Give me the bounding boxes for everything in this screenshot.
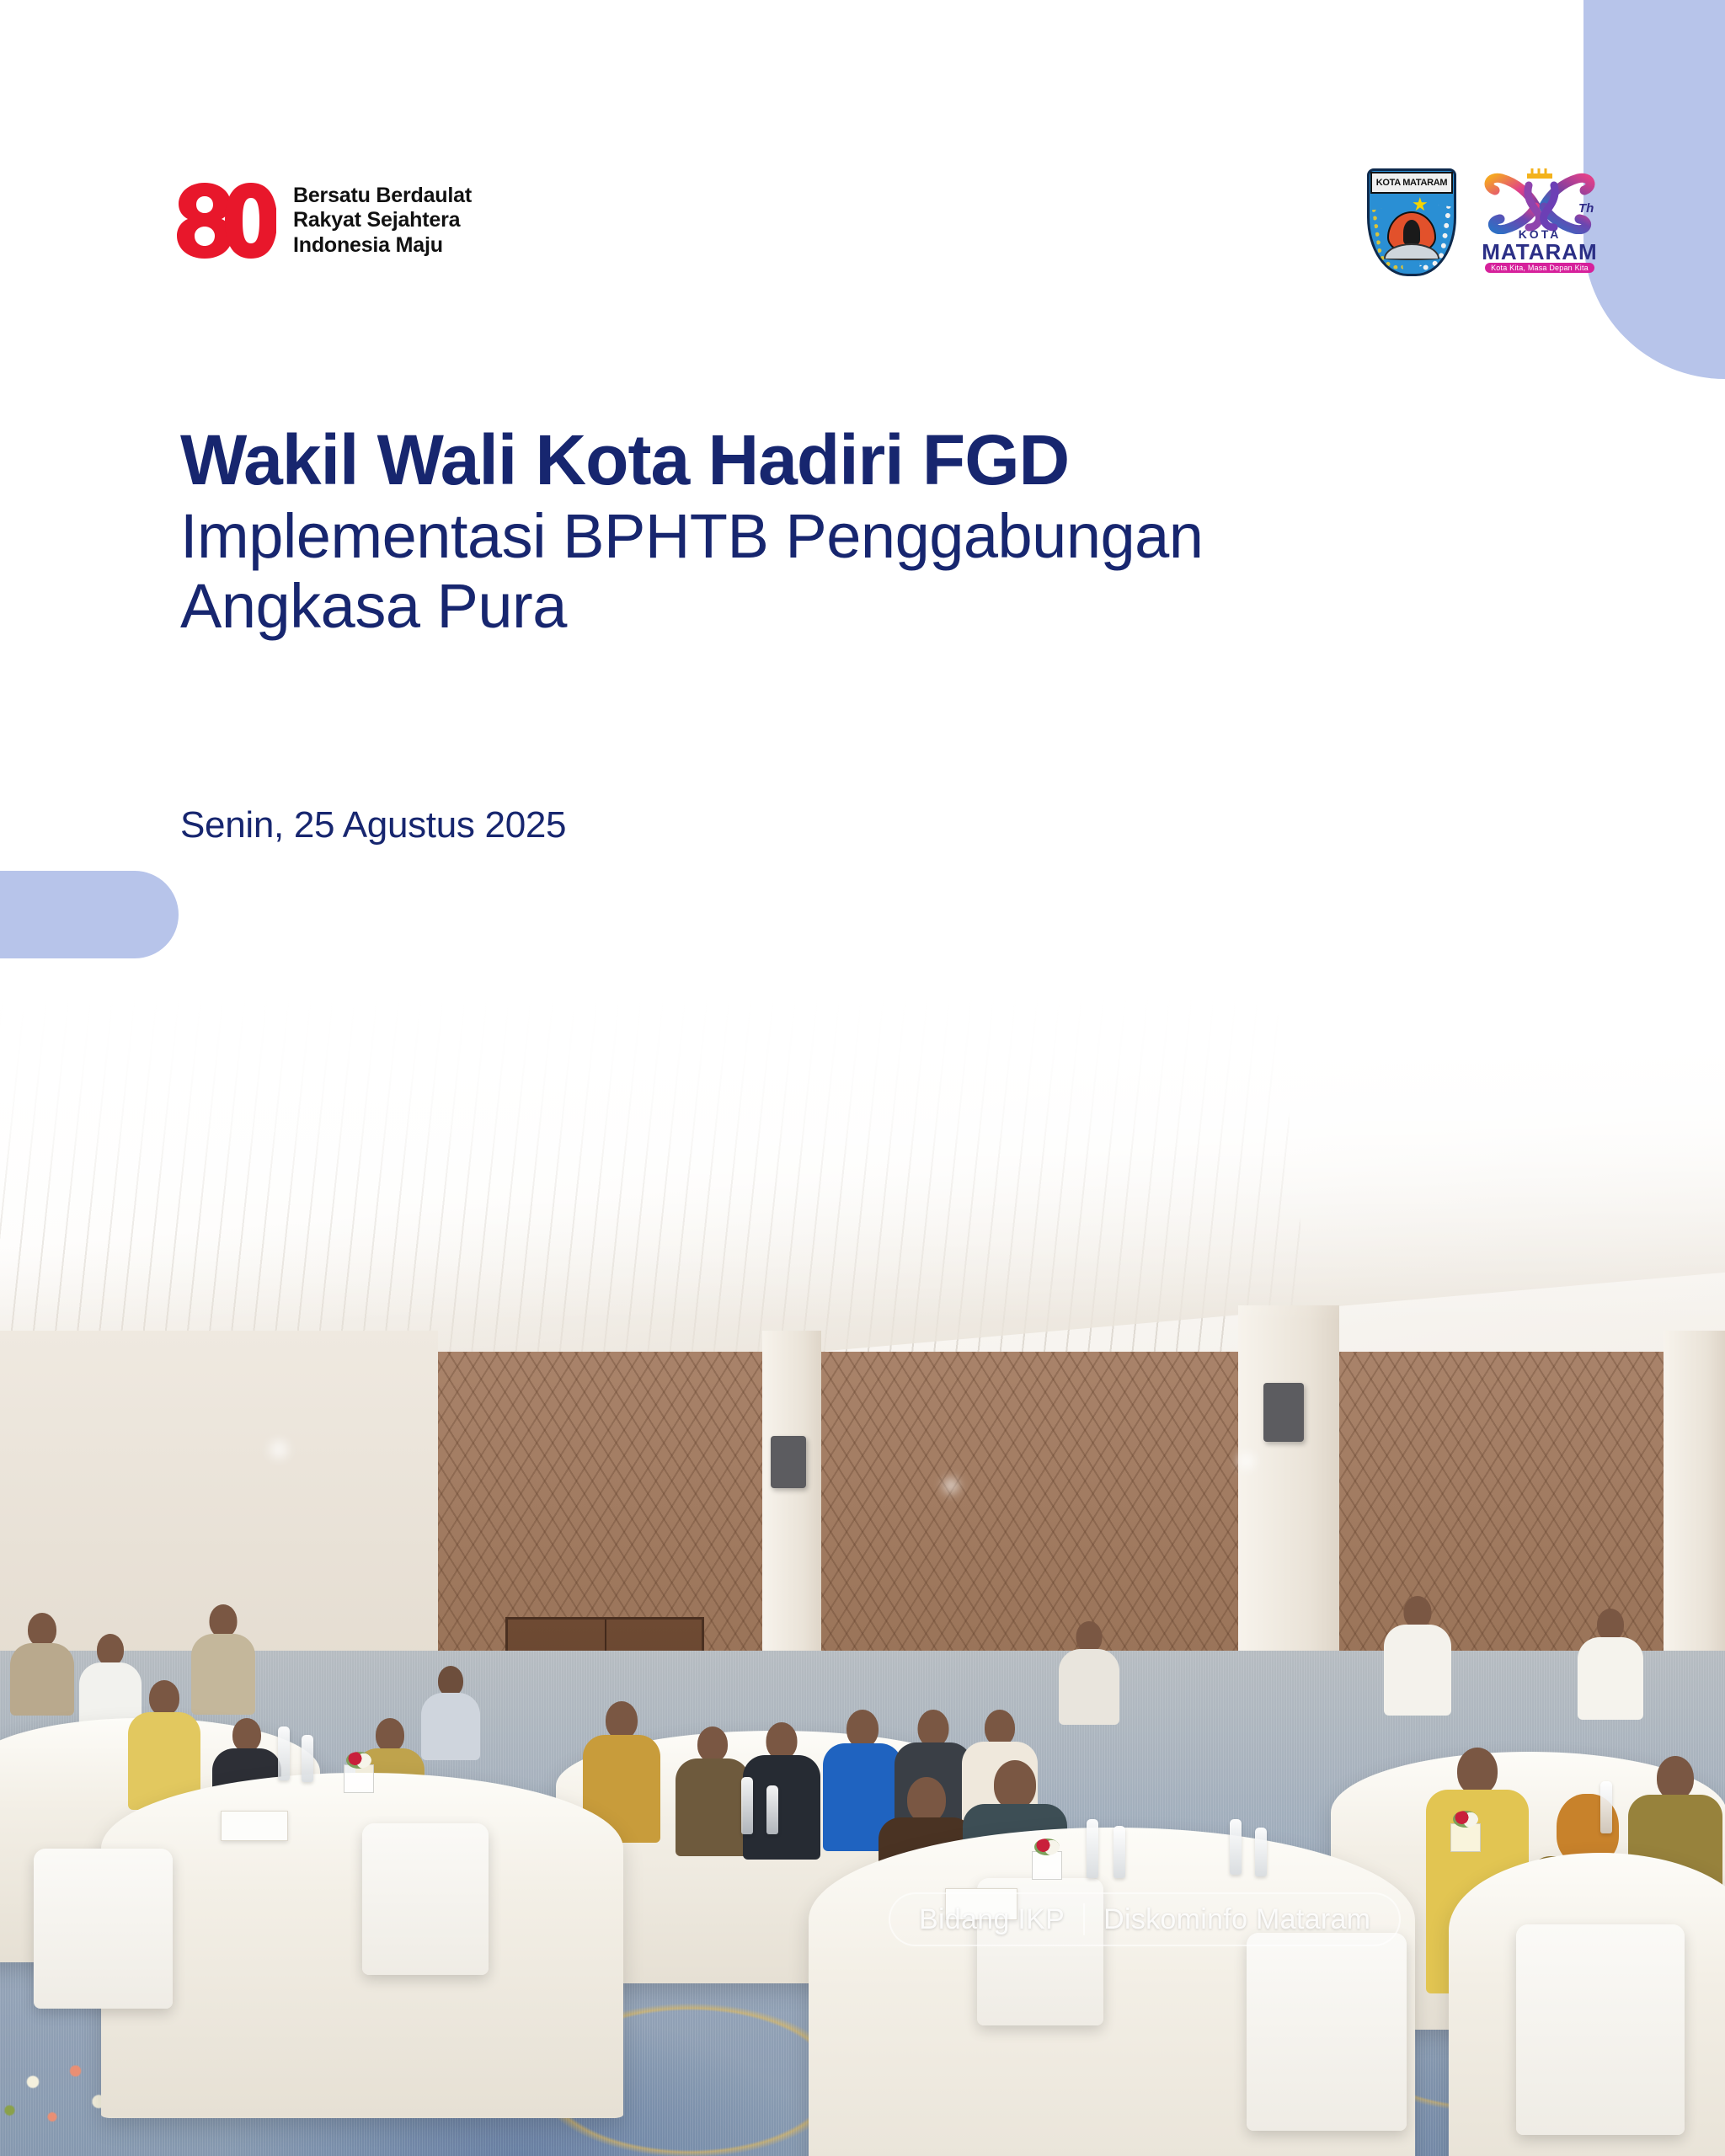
event-date: Senin, 25 Agustus 2025 — [180, 804, 566, 846]
decor-shape-left — [0, 871, 179, 958]
banquet-chair — [1516, 1924, 1685, 2135]
logo-tagline-line1: Bersatu Berdaulat — [293, 184, 472, 207]
attendee — [1575, 1609, 1646, 1718]
water-bottle — [278, 1726, 290, 1780]
water-bottle — [1087, 1819, 1098, 1878]
water-bottle — [302, 1735, 313, 1782]
attendee — [741, 1722, 822, 1857]
kota-mataram-crest-icon: ★ KOTA MATARAM — [1367, 168, 1456, 276]
anniversary-slogan: Kota Kita, Masa Depan Kita — [1485, 263, 1594, 273]
water-bottle — [741, 1777, 753, 1834]
logo-tagline: Bersatu Berdaulat Rakyat Sejahtera Indon… — [293, 184, 472, 259]
watermark-right-label: Diskominfo Mataram — [1103, 1903, 1370, 1936]
attendee — [8, 1613, 76, 1714]
flower-vase — [1032, 1851, 1062, 1880]
decor-shape-top-right — [1583, 0, 1725, 379]
watermark-badge: Bidang IKP Diskominfo Mataram — [889, 1892, 1401, 1946]
banquet-chair — [362, 1823, 489, 1975]
flower-vase — [1450, 1823, 1481, 1852]
logo-lockup-hut-ri-80: Bersatu Berdaulat Rakyat Sejahtera Indon… — [177, 181, 472, 260]
watermark-divider — [1083, 1903, 1085, 1935]
watermark-left-label: Bidang IKP — [919, 1903, 1065, 1936]
attendee — [419, 1666, 482, 1758]
table-name-card — [221, 1811, 288, 1841]
flower-vase — [344, 1764, 374, 1793]
anniversary-mark-icon: Th — [1477, 168, 1603, 234]
svg-text:Th: Th — [1578, 201, 1594, 216]
anniversary-logo: Th KOTA MATARAM Kota Kita, Masa Depan Ki… — [1477, 168, 1603, 269]
eighty-mark-icon — [177, 181, 276, 260]
logo-lockup-kota-mataram: ★ KOTA MATARAM — [1367, 168, 1603, 276]
water-bottle — [1600, 1781, 1612, 1833]
logo-tagline-line3: Indonesia Maju — [293, 233, 443, 257]
headline-line-2: Implementasi BPHTB Penggabungan — [180, 502, 1562, 572]
anniversary-city-label: MATARAM — [1477, 239, 1603, 265]
banquet-chair — [34, 1849, 173, 2009]
headline-line-1: Wakil Wali Kota Hadiri FGD — [180, 423, 1562, 497]
event-photo — [0, 969, 1725, 2156]
photographer — [1381, 1596, 1454, 1714]
water-bottle — [1230, 1819, 1242, 1875]
crest-banner: KOTA MATARAM — [1370, 172, 1453, 194]
headline-line-3: Angkasa Pura — [180, 572, 1562, 642]
attendee — [1057, 1621, 1121, 1722]
water-bottle — [766, 1785, 778, 1834]
attendee — [674, 1726, 751, 1853]
announcement-card: Bersatu Berdaulat Rakyat Sejahtera Indon… — [0, 0, 1725, 2156]
banquet-chair — [1247, 1933, 1407, 2131]
water-bottle — [1114, 1826, 1125, 1878]
page-title: Wakil Wali Kota Hadiri FGD Implementasi … — [180, 423, 1562, 642]
water-bottle — [1255, 1828, 1267, 1876]
logo-tagline-line2: Rakyat Sejahtera — [293, 208, 460, 232]
attendee — [126, 1680, 202, 1806]
